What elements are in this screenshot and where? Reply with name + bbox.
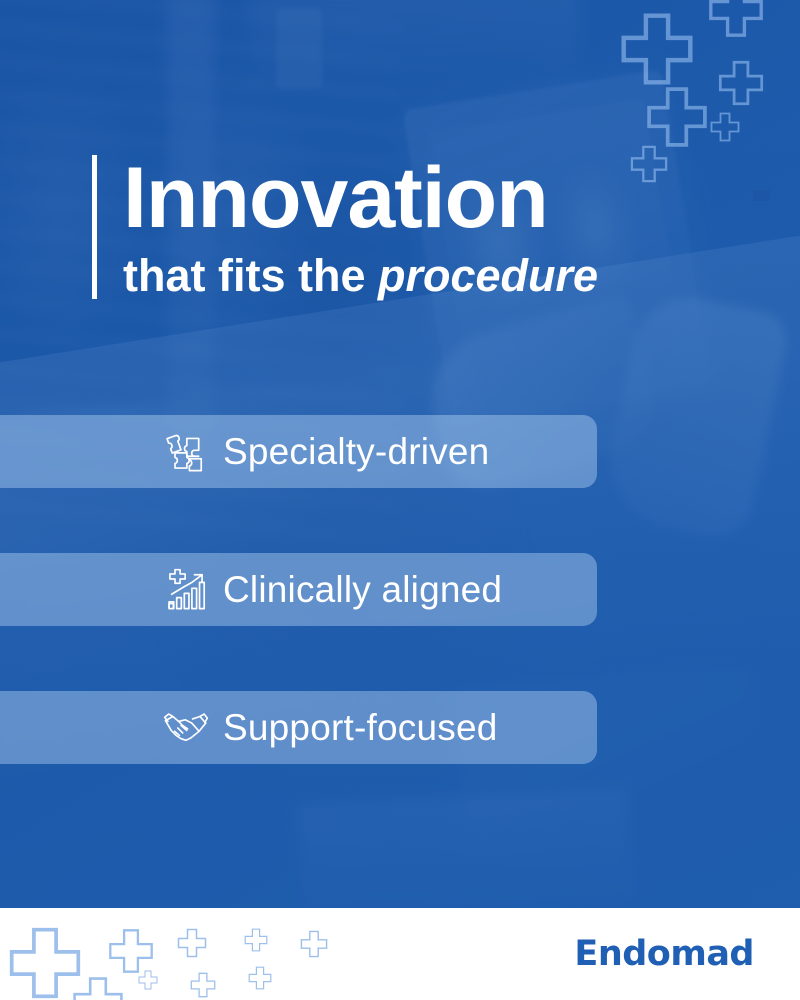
feature-list: Specialty-driven Clinically aligned bbox=[0, 415, 597, 829]
medical-cross-icon bbox=[108, 928, 154, 974]
accent-bar bbox=[92, 155, 97, 299]
headline-subtitle-emphasis: procedure bbox=[378, 250, 598, 301]
feature-label: Specialty-driven bbox=[223, 431, 489, 473]
feature-pill-support-focused[interactable]: Support-focused bbox=[0, 691, 597, 764]
headline-text-group: Innovation that fits the procedure bbox=[123, 155, 598, 299]
feature-pill-specialty-driven[interactable]: Specialty-driven bbox=[0, 415, 597, 488]
medical-cross-icon bbox=[177, 928, 207, 958]
promotional-poster: Innovation that fits the procedure Speci… bbox=[0, 0, 800, 1000]
headline-block: Innovation that fits the procedure bbox=[92, 155, 598, 299]
feature-label: Support-focused bbox=[223, 707, 498, 749]
medical-cross-icon bbox=[72, 976, 124, 1000]
page-title: Innovation bbox=[123, 157, 598, 240]
medical-cross-icon bbox=[300, 930, 328, 958]
headline-subtitle-plain: that fits the bbox=[123, 250, 378, 301]
handshake-icon bbox=[163, 705, 209, 751]
medical-cross-icon bbox=[190, 972, 216, 998]
feature-pill-clinically-aligned[interactable]: Clinically aligned bbox=[0, 553, 597, 626]
medical-cross-icon bbox=[8, 926, 82, 1000]
bar-chart-growth-medical-icon bbox=[163, 567, 209, 613]
feature-label: Clinically aligned bbox=[223, 569, 502, 611]
brand-logo[interactable]: Endomad bbox=[574, 934, 754, 974]
medical-cross-icon bbox=[244, 928, 268, 952]
medical-cross-icon bbox=[138, 970, 158, 990]
cross-pattern-footer bbox=[0, 908, 420, 1000]
medical-cross-icon bbox=[248, 966, 272, 990]
headline-subtitle: that fits the procedure bbox=[123, 252, 598, 299]
footer-bar: Endomad bbox=[0, 908, 800, 1000]
puzzle-pieces-icon bbox=[163, 429, 209, 475]
